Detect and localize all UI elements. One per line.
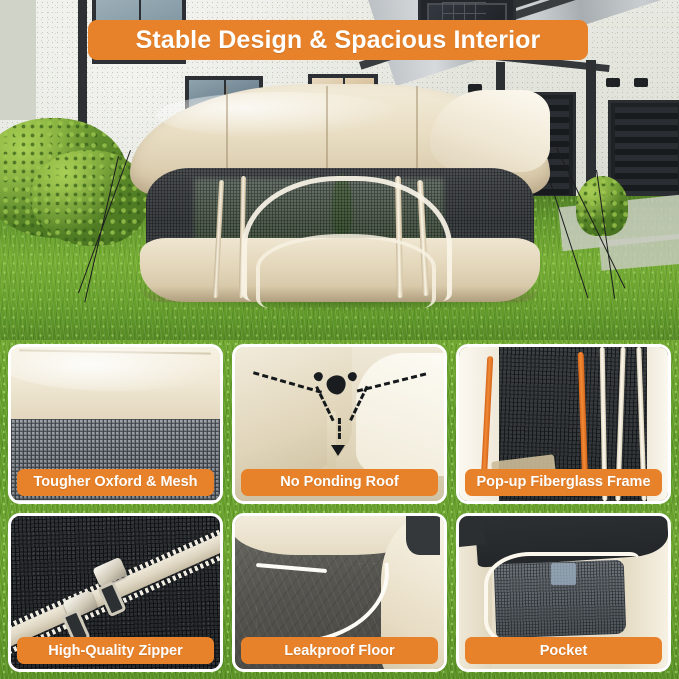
feature-card-leakproof-floor[interactable]: Leakproof Floor bbox=[232, 513, 447, 673]
runoff-arrow-down bbox=[338, 418, 341, 439]
feature-card-pop-up-fiberglass-frame[interactable]: Pop-up Fiberglass Frame bbox=[456, 344, 671, 504]
feature-card-pocket[interactable]: Pocket bbox=[456, 513, 671, 673]
tent-door-arch-inner bbox=[256, 234, 436, 308]
feature-label-3: Pop-up Fiberglass Frame bbox=[476, 474, 650, 490]
feature-card-no-ponding-roof[interactable]: No Ponding Roof bbox=[232, 344, 447, 504]
product-infographic: Stable Design & Spacious Interior Toughe… bbox=[0, 0, 679, 679]
wall-lamp-right-2 bbox=[634, 78, 648, 87]
wall-panel-left bbox=[0, 0, 36, 120]
feature-label-bar-5: Leakproof Floor bbox=[241, 637, 438, 664]
feature-label-bar-2: No Ponding Roof bbox=[241, 469, 438, 496]
feature-label-5: Leakproof Floor bbox=[284, 643, 394, 659]
runoff-arrowhead-icon bbox=[331, 445, 345, 456]
feature-card-high-quality-zipper[interactable]: High-Quality Zipper bbox=[8, 513, 223, 673]
hero-title-text: Stable Design & Spacious Interior bbox=[136, 26, 541, 55]
feature-label-6: Pocket bbox=[540, 643, 588, 659]
tent-canopy-panel-right bbox=[430, 90, 550, 172]
feature-label-bar-1: Tougher Oxford & Mesh bbox=[17, 469, 214, 496]
feature-label-bar-3: Pop-up Fiberglass Frame bbox=[465, 469, 662, 496]
feature-label-1: Tougher Oxford & Mesh bbox=[33, 474, 197, 490]
feature-label-2: No Ponding Roof bbox=[280, 474, 398, 490]
feature-label-4: High-Quality Zipper bbox=[48, 643, 183, 659]
hero-photo: Stable Design & Spacious Interior bbox=[0, 0, 679, 340]
wall-lamp-right bbox=[606, 78, 620, 87]
feature-card-grid: Tougher Oxford & Mesh bbox=[8, 344, 671, 672]
screen-house-tent bbox=[130, 84, 550, 306]
pocket-rim bbox=[484, 552, 638, 649]
feature-label-bar-4: High-Quality Zipper bbox=[17, 637, 214, 664]
feature-card-tougher-oxford-mesh[interactable]: Tougher Oxford & Mesh bbox=[8, 344, 223, 504]
feature-label-bar-6: Pocket bbox=[465, 637, 662, 664]
hero-title-banner: Stable Design & Spacious Interior bbox=[88, 20, 588, 60]
